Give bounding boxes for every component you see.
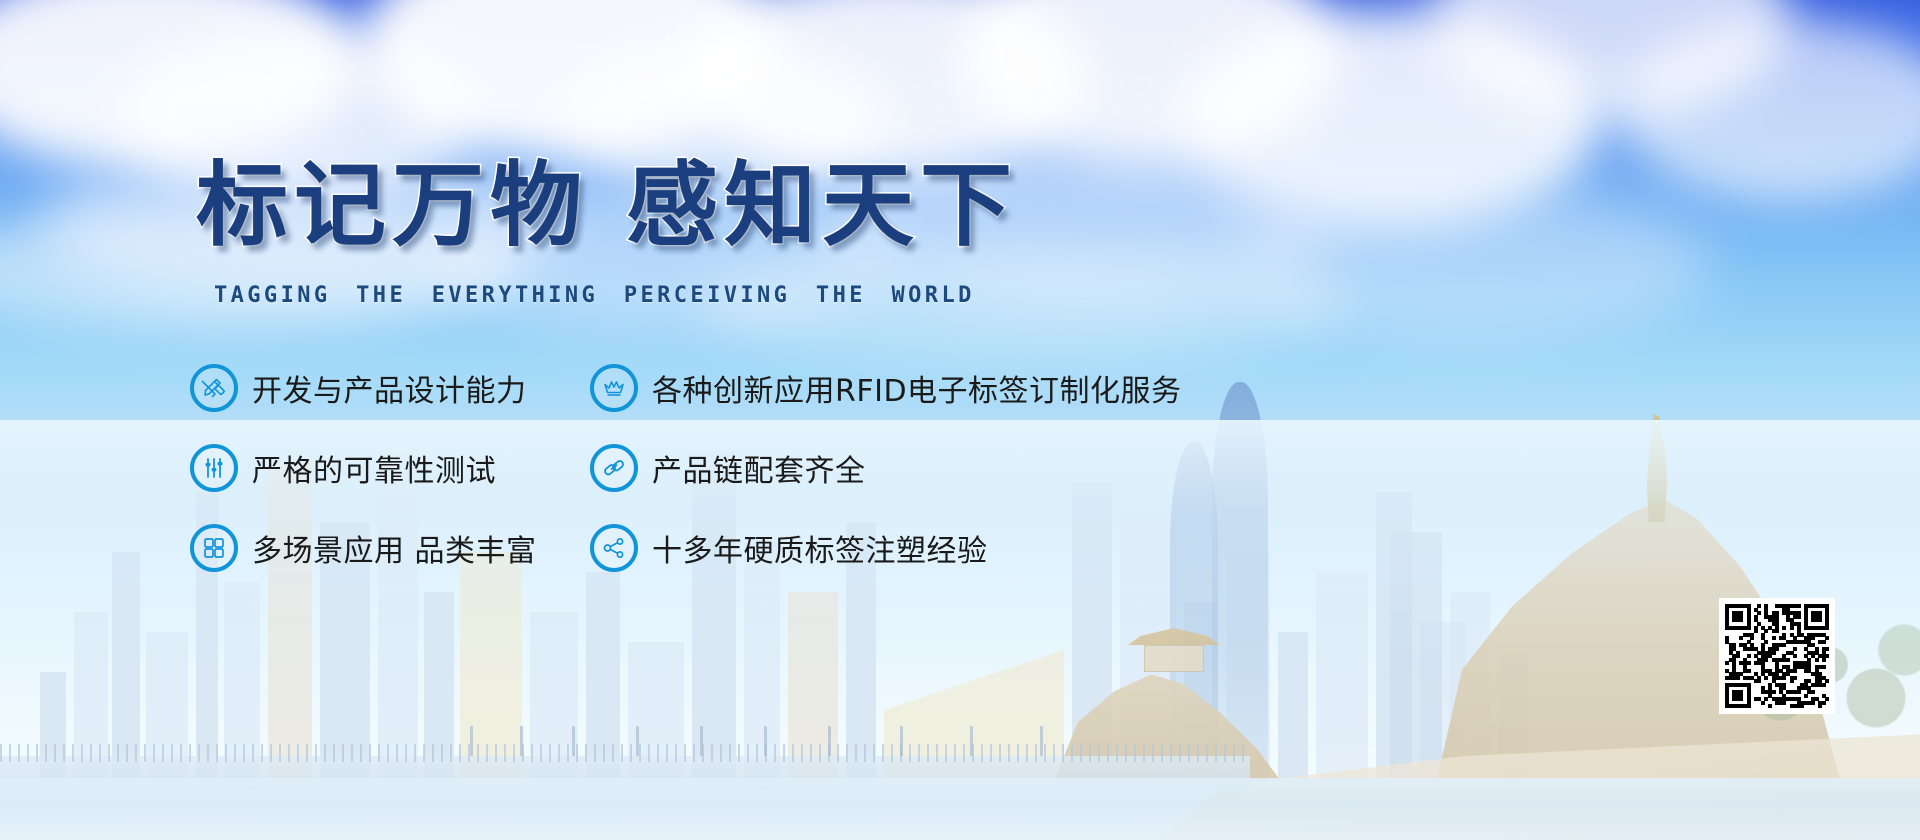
feature-item-development-design: 开发与产品设计能力: [190, 364, 590, 412]
feature-label: 十多年硬质标签注塑经验: [652, 526, 988, 570]
feature-label: 多场景应用 品类丰富: [252, 526, 537, 570]
promotional-banner: 标记万物 感知天下 TAGGING THE EVERYTHING PERCEIV…: [0, 0, 1920, 840]
feature-label: 严格的可靠性测试: [252, 446, 496, 490]
banner-content: 标记万物 感知天下 TAGGING THE EVERYTHING PERCEIV…: [0, 0, 1920, 840]
crown-icon: [590, 364, 638, 412]
sliders-icon: [190, 444, 238, 492]
feature-label: 各种创新应用RFID电子标签订制化服务: [652, 366, 1182, 410]
share-network-icon: [590, 524, 638, 572]
feature-item-reliability-testing: 严格的可靠性测试: [190, 444, 590, 492]
grid-squares-icon: [190, 524, 238, 572]
feature-row: 严格的可靠性测试 产品链配套齐全: [190, 428, 1290, 508]
ruler-pencil-icon: [190, 364, 238, 412]
feature-list: 开发与产品设计能力 各种创新应用RFID电子标签订制化服务: [190, 348, 1290, 588]
feature-label: 产品链配套齐全: [652, 446, 866, 490]
page-title: 标记万物 感知天下: [196, 160, 1018, 252]
feature-item-multi-scenario: 多场景应用 品类丰富: [190, 524, 590, 572]
feature-item-rfid-custom-service: 各种创新应用RFID电子标签订制化服务: [590, 364, 1250, 412]
feature-label: 开发与产品设计能力: [252, 366, 527, 410]
feature-row: 多场景应用 品类丰富: [190, 508, 1290, 588]
feature-item-product-chain: 产品链配套齐全: [590, 444, 1250, 492]
qr-code[interactable]: [1719, 598, 1835, 714]
chain-link-icon: [590, 444, 638, 492]
feature-item-molding-experience: 十多年硬质标签注塑经验: [590, 524, 1250, 572]
tagline: TAGGING THE EVERYTHING PERCEIVING THE WO…: [214, 283, 975, 308]
feature-row: 开发与产品设计能力 各种创新应用RFID电子标签订制化服务: [190, 348, 1290, 428]
